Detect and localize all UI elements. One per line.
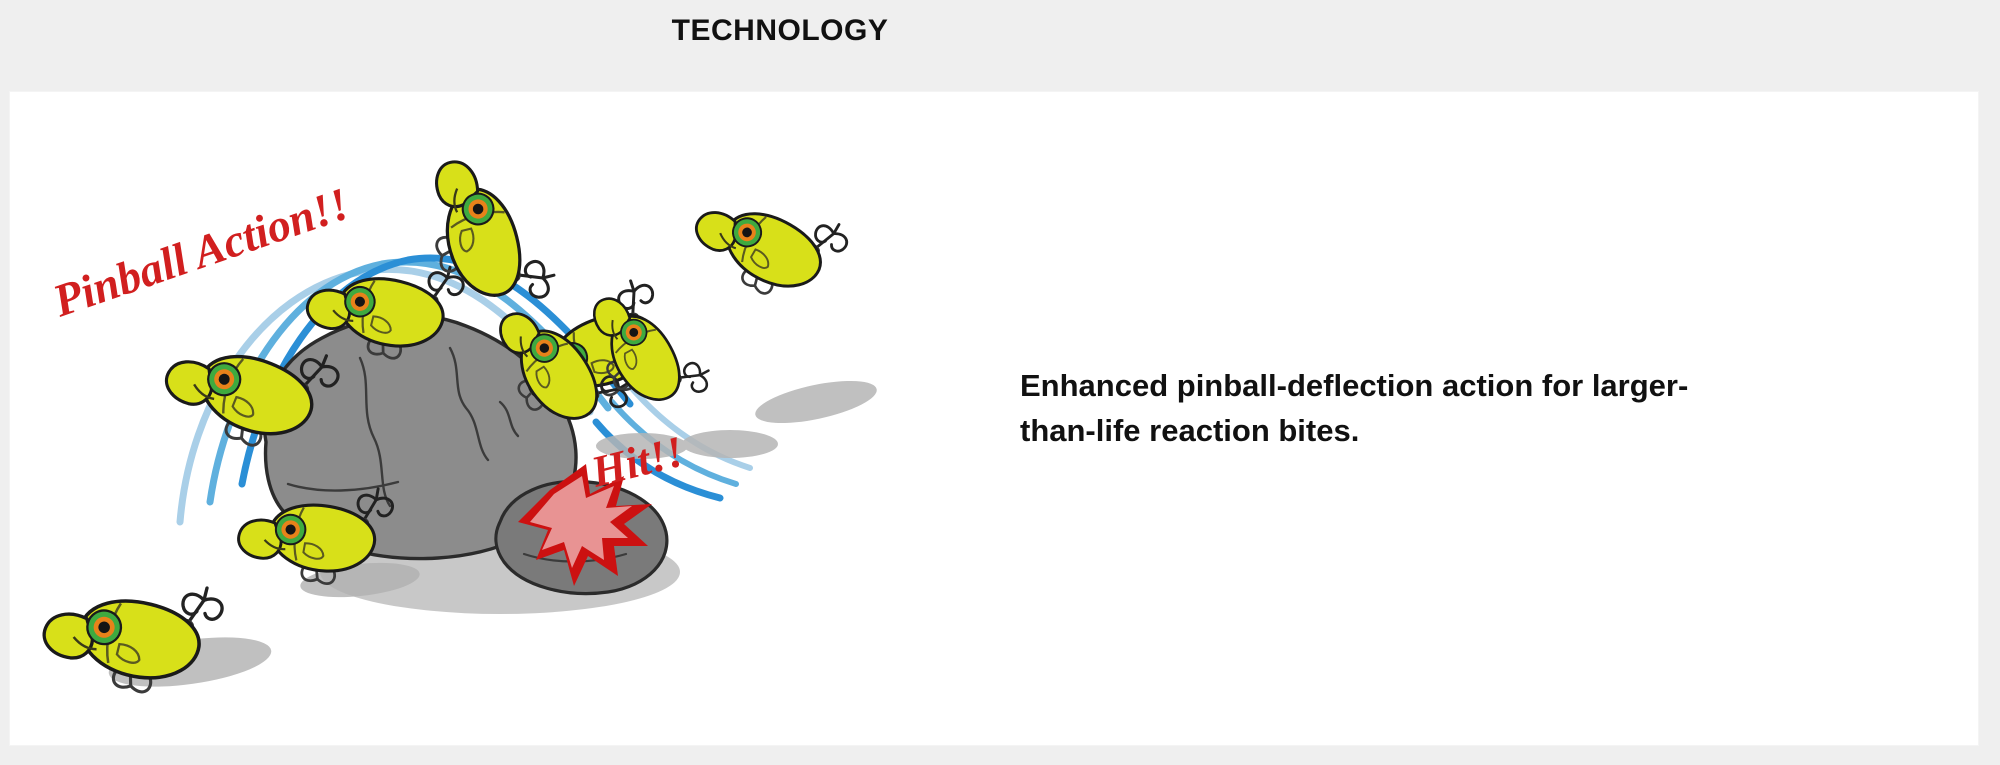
lure-1 [36,552,226,706]
content-card: Pinball Action!! Hit!! Enhanced pinball-… [10,92,1978,745]
lure-9 [683,163,853,318]
pinball-action-illustration: Pinball Action!! Hit!! [30,102,1020,722]
page-title: TECHNOLOGY [0,14,1560,48]
technology-panel: TECHNOLOGY [0,0,2000,765]
hit-label: Hit!! [586,427,689,497]
description-text: Enhanced pinball-deflection action for l… [1020,364,1760,454]
